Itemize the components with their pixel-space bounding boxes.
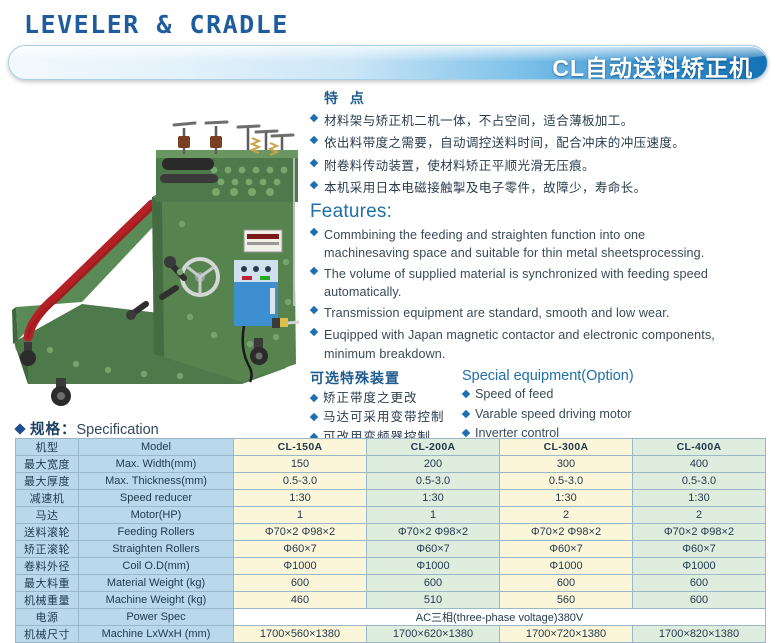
cell-value: Φ70×2 Φ98×2: [633, 524, 766, 541]
features-en-heading: Features:: [310, 201, 772, 223]
cell-value: 1:30: [234, 490, 367, 507]
banner-title: CL自动送料矫正机: [552, 49, 753, 80]
row-label-en: Power Spec: [79, 609, 234, 626]
list-item-line2: minimum breakdown.: [324, 346, 772, 363]
diamond-bullet-icon: [14, 423, 25, 434]
table-row: 最大厚度 Max. Thickness(mm) 0.5-3.0 0.5-3.0 …: [16, 473, 766, 490]
table-row: 减速机 Speed reducer 1:30 1:30 1:30 1:30: [16, 490, 766, 507]
cell-value: CL-400A: [633, 439, 766, 456]
list-item-label: Transmission equipment are standard, smo…: [324, 306, 669, 320]
row-label-en: Straighten Rollers: [79, 541, 234, 558]
cell-value: 1:30: [367, 490, 500, 507]
row-label-en: Coil O.D(mm): [79, 558, 234, 575]
specification-table-body: 机型 Model CL-150A CL-200A CL-300A CL-400A…: [16, 439, 766, 643]
cell-value: Φ60×7: [500, 541, 633, 558]
row-label-en: Speed reducer: [79, 490, 234, 507]
cell-value-spanning: AC三相(three-phase voltage)380V: [234, 609, 766, 626]
list-item-line2: machinesaving space and suitable for thi…: [324, 245, 772, 262]
diamond-bullet-icon: [310, 413, 318, 421]
row-label-cn: 机械重量: [16, 592, 79, 609]
list-item: Varable speed driving motor: [462, 406, 762, 423]
row-label-en: Machine Weight (kg): [79, 592, 234, 609]
table-row: 机型 Model CL-150A CL-200A CL-300A CL-400A: [16, 439, 766, 456]
list-item-line1: Commbining the feeding and straighten fu…: [324, 228, 645, 242]
cell-value: 1: [234, 507, 367, 524]
cell-value: 400: [633, 456, 766, 473]
list-item: 本机采用日本电磁接触掣及电子零件，故障少，寿命长。: [310, 177, 772, 198]
cell-value: CL-150A: [234, 439, 367, 456]
diamond-bullet-icon: [310, 394, 318, 402]
row-label-en: Motor(HP): [79, 507, 234, 524]
diamond-bullet-icon: [310, 181, 318, 189]
diamond-bullet-icon: [310, 267, 318, 275]
list-item-label: 附卷料传动装置，使材料矫正平顺光滑无压痕。: [324, 159, 595, 173]
options-cn-heading: 可选特殊装置: [310, 368, 462, 388]
cell-value: Φ70×2 Φ98×2: [500, 524, 633, 541]
list-item-label: 矫正带度之更改: [323, 391, 418, 405]
features-en-list: Commbining the feeding and straighten fu…: [310, 224, 772, 362]
table-row: 最大宽度 Max. Width(mm) 150 200 300 400: [16, 456, 766, 473]
features-cn-heading: 特 点: [324, 88, 772, 108]
diamond-bullet-icon: [462, 390, 470, 398]
cell-value: Φ1000: [633, 558, 766, 575]
cell-value: CL-200A: [367, 439, 500, 456]
list-item: Speed of feed: [462, 386, 762, 403]
row-label-en: Machine LxWxH (mm): [79, 626, 234, 643]
list-item-label: 依出料带度之需要，自动调控送料时间，配合冲床的冲压速度。: [324, 136, 685, 150]
cell-value: 600: [633, 592, 766, 609]
specification-table: 机型 Model CL-150A CL-200A CL-300A CL-400A…: [15, 438, 766, 643]
cell-value: 600: [234, 575, 367, 592]
cell-value: 150: [234, 456, 367, 473]
list-item-line1: Euqipped with Japan magnetic contactor a…: [324, 328, 715, 342]
spec-heading-cn: 规格：: [30, 422, 77, 438]
list-item: Transmission equipment are standard, smo…: [310, 302, 772, 323]
page-header: LEVELER & CRADLE CL自动送料矫正机: [0, 0, 776, 88]
cell-value: 1700×820×1380: [633, 626, 766, 643]
cell-value: Φ70×2 Φ98×2: [234, 524, 367, 541]
cell-value: Φ60×7: [234, 541, 367, 558]
list-item: 依出料带度之需要，自动调控送料时间，配合冲床的冲压速度。: [310, 132, 772, 153]
cell-value: 0.5-3.0: [234, 473, 367, 490]
list-item: 矫正带度之更改: [310, 390, 462, 407]
cell-value: Φ1000: [500, 558, 633, 575]
list-item-label: Commbining the feeding and straighten fu…: [324, 228, 772, 262]
cell-value: 2: [633, 507, 766, 524]
list-item-label: Varable speed driving motor: [475, 407, 632, 421]
row-label-cn: 卷料外径: [16, 558, 79, 575]
machine-illustration: [4, 92, 304, 410]
options-en-heading: Special equipment(Option): [462, 368, 762, 384]
table-row: 机械尺寸 Machine LxWxH (mm) 1700×560×1380 17…: [16, 626, 766, 643]
list-item-label: 马达可采用变带控制: [323, 410, 445, 424]
list-item-label: The volume of supplied material is synch…: [324, 267, 772, 301]
cell-value: 560: [500, 592, 633, 609]
table-row: 矫正滚轮 Straighten Rollers Φ60×7 Φ60×7 Φ60×…: [16, 541, 766, 558]
features-cn-list: 材料架与矫正机二机一体，不占空间，适合薄板加工。 依出料带度之需要，自动调控送料…: [310, 110, 772, 198]
table-row: 卷料外径 Coil O.D(mm) Φ1000 Φ1000 Φ1000 Φ100…: [16, 558, 766, 575]
cell-value: Φ60×7: [367, 541, 500, 558]
list-item: 马达可采用变带控制: [310, 409, 462, 426]
row-label-cn: 最大料重: [16, 575, 79, 592]
list-item: 附卷料传动装置，使材料矫正平顺光滑无压痕。: [310, 155, 772, 176]
cell-value: 600: [500, 575, 633, 592]
cell-value: CL-300A: [500, 439, 633, 456]
row-label-cn: 机型: [16, 439, 79, 456]
machine-photo: [4, 92, 304, 410]
cell-value: 0.5-3.0: [633, 473, 766, 490]
row-label-cn: 马达: [16, 507, 79, 524]
diamond-bullet-icon: [310, 158, 318, 166]
list-item-label: 材料架与矫正机二机一体，不占空间，适合薄板加工。: [324, 114, 634, 128]
cell-value: 1700×620×1380: [367, 626, 500, 643]
cell-value: 600: [633, 575, 766, 592]
cell-value: 200: [367, 456, 500, 473]
cell-value: 510: [367, 592, 500, 609]
diamond-bullet-icon: [310, 228, 318, 236]
diamond-bullet-icon: [310, 136, 318, 144]
table-row: 送料滚轮 Feeding Rollers Φ70×2 Φ98×2 Φ70×2 Φ…: [16, 524, 766, 541]
list-item: 材料架与矫正机二机一体，不占空间，适合薄板加工。: [310, 110, 772, 131]
row-label-en: Material Weight (kg): [79, 575, 234, 592]
table-row: 电源 Power Spec AC三相(three-phase voltage)3…: [16, 609, 766, 626]
cell-value: 0.5-3.0: [500, 473, 633, 490]
cell-value: 1: [367, 507, 500, 524]
row-label-cn: 送料滚轮: [16, 524, 79, 541]
diamond-bullet-icon: [310, 328, 318, 336]
list-item-line1: The volume of supplied material is synch…: [324, 267, 708, 281]
row-label-en: Model: [79, 439, 234, 456]
diamond-bullet-icon: [462, 429, 470, 437]
list-item: The volume of supplied material is synch…: [310, 263, 772, 301]
cell-value: 2: [500, 507, 633, 524]
row-label-en: Feeding Rollers: [79, 524, 234, 541]
title-banner: CL自动送料矫正机: [8, 45, 768, 80]
list-item-line1: Transmission equipment are standard, smo…: [324, 306, 669, 320]
cell-value: Φ60×7: [633, 541, 766, 558]
cell-value: 1700×720×1380: [500, 626, 633, 643]
description-column: 特 点 材料架与矫正机二机一体，不占空间，适合薄板加工。 依出料带度之需要，自动…: [310, 88, 772, 480]
row-label-en: Max. Width(mm): [79, 456, 234, 473]
row-label-cn: 最大宽度: [16, 456, 79, 473]
cell-value: Φ1000: [234, 558, 367, 575]
table-row: 最大料重 Material Weight (kg) 600 600 600 60…: [16, 575, 766, 592]
spec-heading-en: Specification: [77, 422, 159, 438]
cell-value: 600: [367, 575, 500, 592]
row-label-cn: 最大厚度: [16, 473, 79, 490]
diamond-bullet-icon: [310, 114, 318, 122]
list-item-label: Speed of feed: [475, 387, 553, 401]
row-label-cn: 矫正滚轮: [16, 541, 79, 558]
cell-value: 1:30: [500, 490, 633, 507]
cell-value: 300: [500, 456, 633, 473]
diamond-bullet-icon: [462, 409, 470, 417]
table-row: 马达 Motor(HP) 1 1 2 2: [16, 507, 766, 524]
row-label-en: Max. Thickness(mm): [79, 473, 234, 490]
row-label-cn: 电源: [16, 609, 79, 626]
table-row: 机械重量 Machine Weight (kg) 460 510 560 600: [16, 592, 766, 609]
cell-value: Φ1000: [367, 558, 500, 575]
list-item: Euqipped with Japan magnetic contactor a…: [310, 324, 772, 362]
row-label-cn: 减速机: [16, 490, 79, 507]
cell-value: Φ70×2 Φ98×2: [367, 524, 500, 541]
list-item: Commbining the feeding and straighten fu…: [310, 224, 772, 262]
list-item-label: 本机采用日本电磁接触掣及电子零件，故障少，寿命长。: [324, 181, 647, 195]
row-label-cn: 机械尺寸: [16, 626, 79, 643]
specification-heading: 规格：Specification: [16, 418, 159, 439]
list-item-line2: automatically.: [324, 284, 772, 301]
diamond-bullet-icon: [310, 306, 318, 314]
page-title: LEVELER & CRADLE: [24, 10, 289, 39]
cell-value: 460: [234, 592, 367, 609]
cell-value: 1:30: [633, 490, 766, 507]
cell-value: 1700×560×1380: [234, 626, 367, 643]
cell-value: 0.5-3.0: [367, 473, 500, 490]
list-item-label: Euqipped with Japan magnetic contactor a…: [324, 328, 772, 362]
